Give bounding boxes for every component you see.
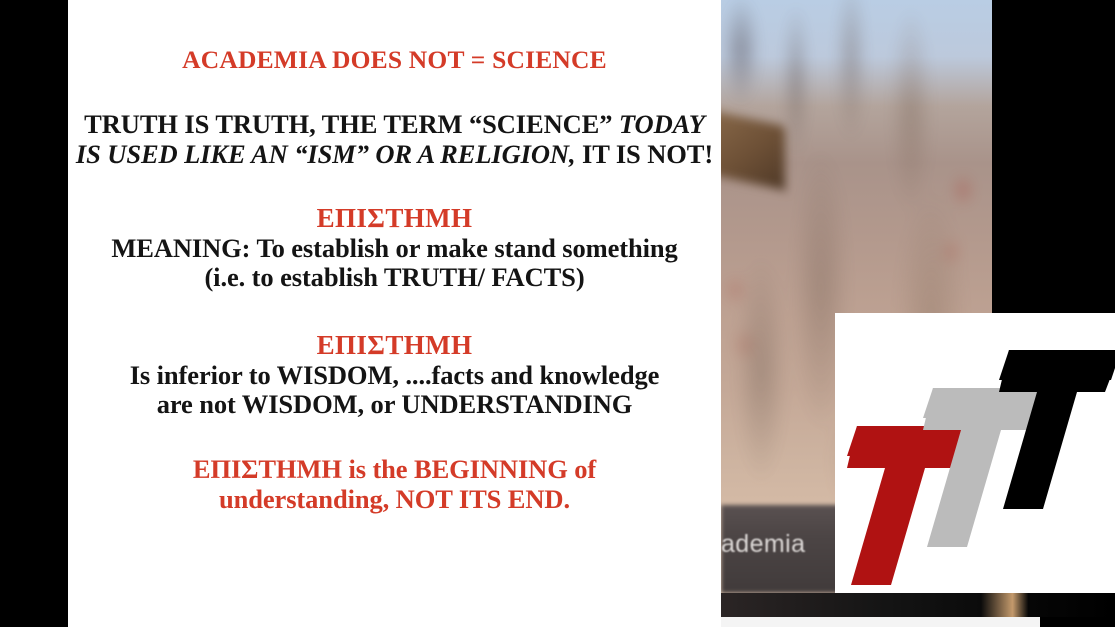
greek-term-meaning: ΕΠΙΣΤΗΜΗ xyxy=(68,203,721,234)
slide-block-truth-statement: TRUTH IS TRUTH, THE TERM “SCIENCE” TODAY… xyxy=(68,110,721,170)
logo-letter-t-black-bar xyxy=(999,350,1115,380)
meaning-line-2: (i.e. to establish TRUTH/ FACTS) xyxy=(68,263,721,293)
slide-block-episteme-meaning: ΕΠΙΣΤΗΜΗ MEANING: To establish or make s… xyxy=(68,203,721,293)
ttt-logo-icon xyxy=(835,313,1115,593)
greek-term-wisdom: ΕΠΙΣΤΗΜΗ xyxy=(68,330,721,361)
logo-letter-t-red-bar xyxy=(847,426,969,456)
meaning-line-1: MEANING: To establish or make stand some… xyxy=(68,234,721,264)
slide-block-episteme-beginning: ΕΠΙΣΤΗΜΗ is the BEGINNING of understandi… xyxy=(68,455,721,515)
slide-panel: ACADEMIA DOES NOT = SCIENCE TRUTH IS TRU… xyxy=(68,0,721,627)
beginning-line-2: understanding, NOT ITS END. xyxy=(68,485,721,515)
truth-line-2: IS USED LIKE AN “ISM” OR A RELIGION, IT … xyxy=(68,140,721,170)
wisdom-line-1: Is inferior to WISDOM, ....facts and kno… xyxy=(68,361,721,391)
truth-line-1-plain: TRUTH IS TRUTH, THE TERM “SCIENCE” xyxy=(84,109,619,139)
truth-line-2-plain: IT IS NOT! xyxy=(575,139,713,169)
video-player-frame: ademia ACADEMIA DOES NOT = SCIENCE TRUTH… xyxy=(0,0,1115,627)
wisdom-line-2: are not WISDOM, or UNDERSTANDING xyxy=(68,390,721,420)
truth-line-1: TRUTH IS TRUTH, THE TERM “SCIENCE” TODAY xyxy=(68,110,721,140)
letterbox-left xyxy=(0,0,68,627)
ttt-logo-card xyxy=(835,313,1115,593)
slide-block-episteme-wisdom: ΕΠΙΣΤΗΜΗ Is inferior to WISDOM, ....fact… xyxy=(68,330,721,420)
truth-line-2-italic: IS USED LIKE AN “ISM” OR A RELIGION, xyxy=(76,139,576,169)
video-bottom-strip-right xyxy=(1040,617,1115,627)
logo-letter-t-gray-bar xyxy=(923,388,1045,418)
heading-line: ACADEMIA DOES NOT = SCIENCE xyxy=(68,46,721,75)
slide-block-heading: ACADEMIA DOES NOT = SCIENCE xyxy=(68,46,721,75)
truth-line-1-italic: TODAY xyxy=(619,109,705,139)
beginning-line-1: ΕΠΙΣΤΗΜΗ is the BEGINNING of xyxy=(68,455,721,485)
video-bottom-band xyxy=(721,593,1115,617)
